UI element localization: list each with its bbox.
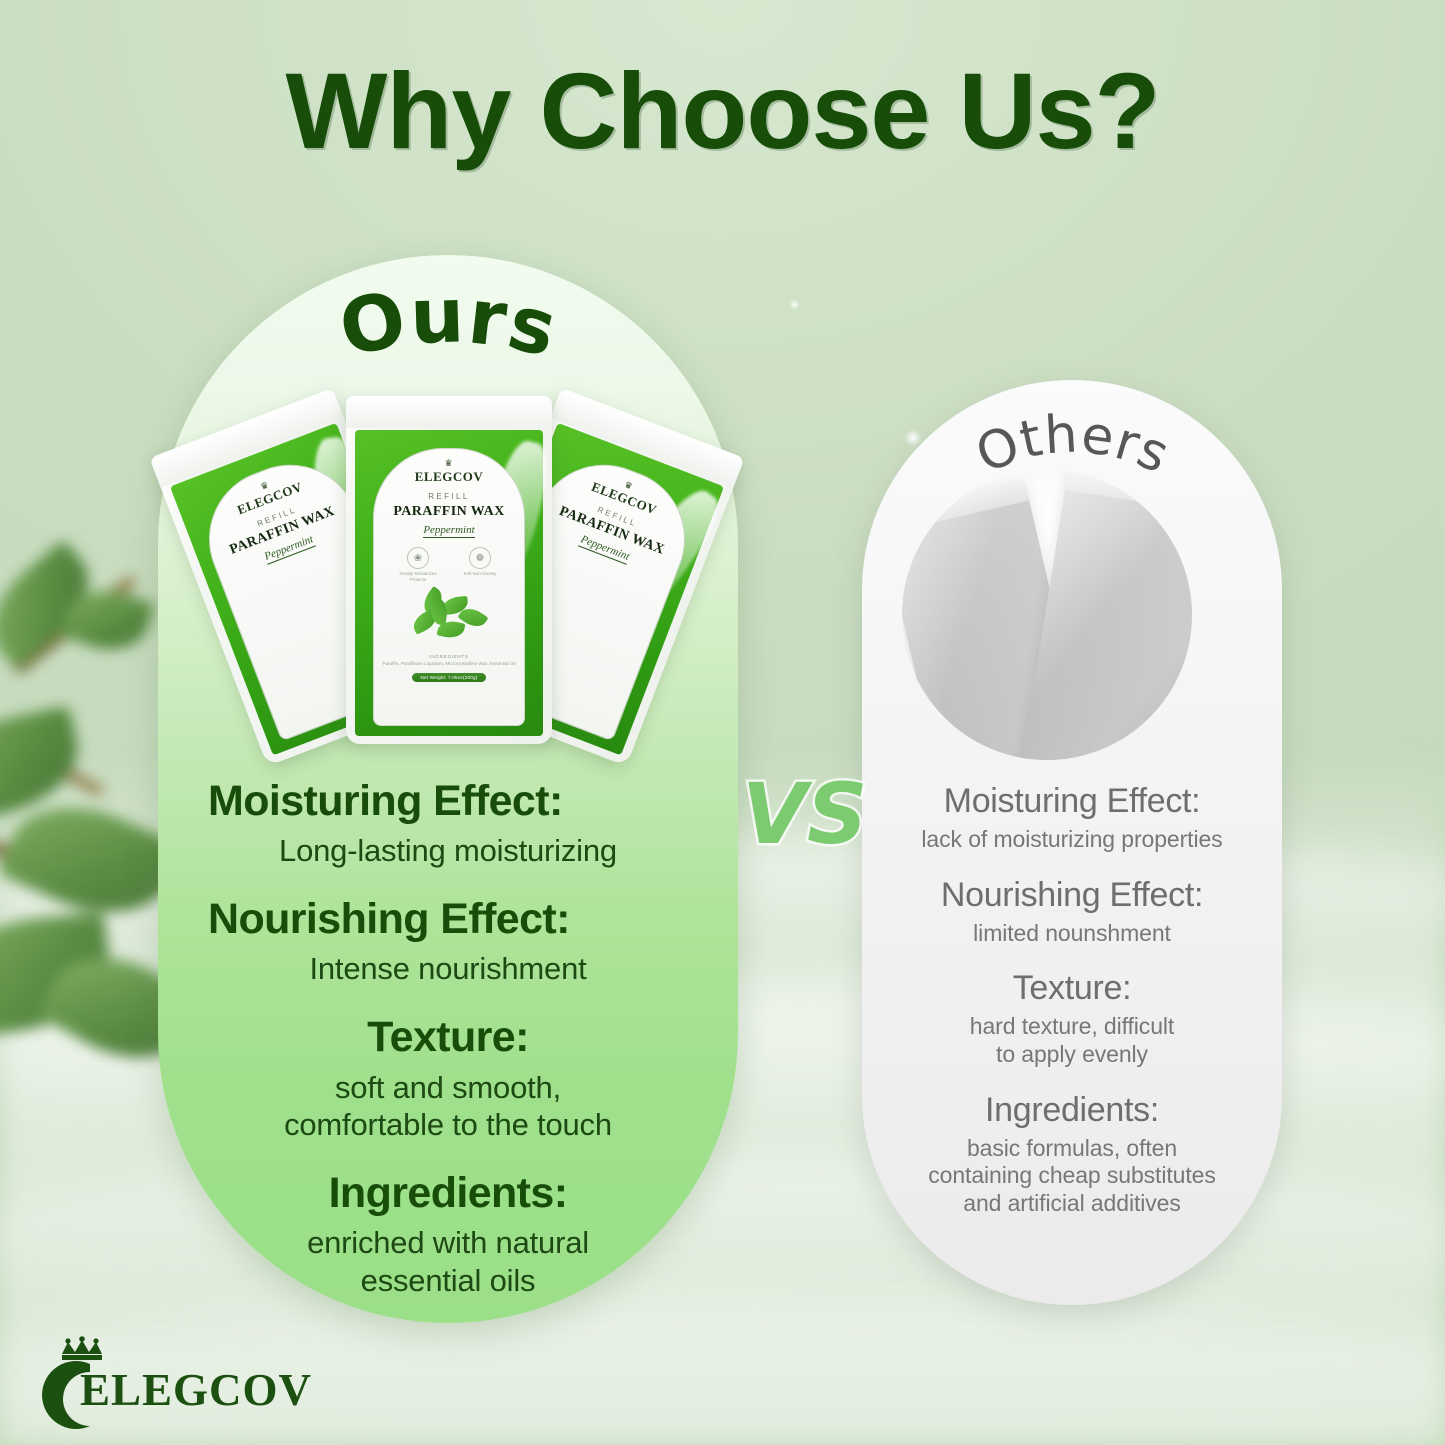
feature-item: Texture: soft and smooth,comfortable to … bbox=[170, 1014, 726, 1144]
feature-desc: hard texture, difficultto apply evenly bbox=[872, 1013, 1272, 1068]
feature-desc: Intense nourishment bbox=[170, 950, 726, 988]
feature-item: Texture: hard texture, difficultto apply… bbox=[872, 969, 1272, 1068]
feature-desc: lack of moisturizing properties bbox=[872, 826, 1272, 854]
feature-title: Texture: bbox=[170, 1014, 726, 1061]
ours-heading-text: Ours bbox=[332, 270, 566, 374]
product-label: ♛ ELEGCOV REFILL PARAFFIN WAX Peppermint… bbox=[373, 448, 525, 726]
moisturize-badge-icon: ❀ bbox=[407, 547, 429, 569]
label-ingredients-title: INGREDIENTS bbox=[382, 655, 516, 660]
label-product-name: PARAFFIN WAX bbox=[382, 504, 516, 520]
feature-desc: Long-lasting moisturizing bbox=[170, 832, 726, 870]
feature-desc: soft and smooth,comfortable to the touch bbox=[170, 1069, 726, 1145]
ours-heading: Ours bbox=[0, 268, 1445, 388]
label-ingredients: Paraffin, Paraffinum Liquidum, Microcrys… bbox=[382, 661, 516, 668]
feature-item: Ingredients: enriched with naturalessent… bbox=[170, 1170, 726, 1300]
svg-text:Ours: Ours bbox=[332, 270, 566, 374]
label-scent: Peppermint bbox=[423, 524, 474, 538]
soft-badge-icon: ❁ bbox=[469, 547, 491, 569]
feature-item: Ingredients: basic formulas, oftencontai… bbox=[872, 1091, 1272, 1218]
badge-caption: Soft Non-Greasy bbox=[458, 571, 502, 577]
label-refill: REFILL bbox=[382, 492, 516, 501]
mint-leaves-illustration bbox=[382, 591, 516, 649]
label-net-weight: Net Weight: 7.05oz(200g) bbox=[412, 673, 486, 682]
feature-title: Ingredients: bbox=[170, 1170, 726, 1217]
others-heading: Others bbox=[0, 398, 1445, 488]
svg-text:Others: Others bbox=[968, 404, 1178, 485]
badge-caption: Deeply Moisturizes Protects bbox=[396, 571, 440, 583]
feature-title: Nourishing Effect: bbox=[170, 896, 726, 943]
feature-desc: limited nounshment bbox=[872, 920, 1272, 948]
feature-item: Moisturing Effect: lack of moisturizing … bbox=[872, 782, 1272, 854]
others-product-image bbox=[902, 470, 1192, 760]
vs-divider: VS bbox=[742, 772, 862, 856]
label-badges: ❀ Deeply Moisturizes Protects ❁ Soft Non… bbox=[382, 547, 516, 583]
label-badge: ❀ Deeply Moisturizes Protects bbox=[396, 547, 440, 583]
others-heading-text: Others bbox=[968, 404, 1178, 485]
crown-icon bbox=[62, 1336, 102, 1360]
feature-item: Nourishing Effect: Intense nourishment bbox=[170, 896, 726, 988]
page-title: Why Choose Us? bbox=[0, 48, 1445, 173]
feature-title: Nourishing Effect: bbox=[872, 876, 1272, 914]
feature-item: Nourishing Effect: limited nounshment bbox=[872, 876, 1272, 948]
feature-title: Ingredients: bbox=[872, 1091, 1272, 1129]
logo-text: ELEGCOV bbox=[80, 1364, 312, 1416]
brand-logo: ELEGCOV bbox=[28, 1336, 248, 1436]
feature-title: Moisturing Effect: bbox=[170, 778, 726, 825]
block-sheen bbox=[1021, 470, 1192, 760]
feature-desc: enriched with naturalessential oils bbox=[170, 1224, 726, 1300]
feature-desc: basic formulas, oftencontaining cheap su… bbox=[872, 1135, 1272, 1218]
gray-wax-block-right bbox=[1021, 470, 1192, 760]
others-feature-list: Moisturing Effect: lack of moisturizing … bbox=[872, 782, 1272, 1217]
feature-item: Moisturing Effect: Long-lasting moisturi… bbox=[170, 778, 726, 870]
label-badge: ❁ Soft Non-Greasy bbox=[458, 547, 502, 583]
feature-title: Texture: bbox=[872, 969, 1272, 1007]
ours-feature-list: Moisturing Effect: Long-lasting moisturi… bbox=[170, 778, 726, 1300]
feature-title: Moisturing Effect: bbox=[872, 782, 1272, 820]
